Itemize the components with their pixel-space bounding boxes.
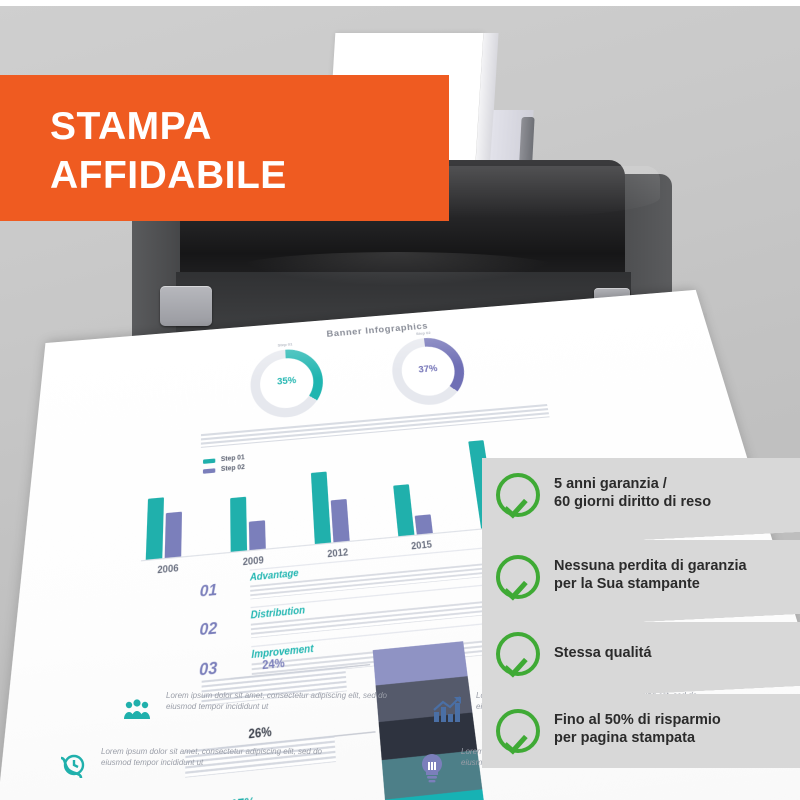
headline-line-1: STAMPA	[50, 107, 212, 146]
check-circle-icon	[496, 473, 540, 517]
feature-3-line-1: Stessa qualitá	[554, 645, 652, 661]
feature-box-1[interactable]: 5 anni garanzia / 60 giorni diritto di r…	[482, 458, 800, 532]
check-circle-icon	[496, 709, 540, 753]
feature-box-2[interactable]: Nessuna perdita di garanzia per la Sua s…	[482, 540, 800, 614]
bottom-item: Lorem ipsum dolor sit amet, consectetur …	[55, 746, 355, 794]
feature-4-line-1: Fino al 50% di risparmio	[554, 712, 721, 728]
feature-box-3[interactable]: Stessa qualitá	[482, 622, 800, 686]
feature-4-line-2: per pagina stampata	[554, 730, 695, 746]
bottom-item-text: Lorem ipsum dolor sit amet, consectetur …	[101, 746, 341, 768]
bar-chart-growth-icon	[430, 694, 464, 728]
check-circle-icon	[496, 632, 540, 676]
bottom-item: Lorem ipsum dolor sit amet, consectetur …	[120, 690, 420, 738]
lightbulb-idea-icon	[415, 750, 449, 784]
people-group-icon	[120, 694, 154, 728]
top-white-strip	[0, 0, 800, 6]
poster-canvas: Banner Infographics Step 01 35% Step 02 …	[0, 0, 800, 800]
feature-1-line-2: 60 giorni diritto di reso	[554, 494, 711, 510]
bottom-item-text: Lorem ipsum dolor sit amet, consectetur …	[166, 690, 406, 712]
printer-sheen	[232, 252, 562, 286]
headline-line-2: AFFIDABILE	[50, 156, 287, 195]
feature-box-4[interactable]: Fino al 50% di risparmio per pagina stam…	[482, 694, 800, 768]
clock-phone-icon	[55, 750, 89, 784]
feature-2-line-1: Nessuna perdita di garanzia	[554, 558, 747, 574]
feature-2-line-2: per la Sua stampante	[554, 576, 700, 592]
feature-1-line-1: 5 anni garanzia /	[554, 476, 667, 492]
check-circle-icon	[496, 555, 540, 599]
headline-banner: STAMPA AFFIDABILE	[0, 75, 449, 221]
left-panel-button[interactable]	[160, 286, 212, 326]
